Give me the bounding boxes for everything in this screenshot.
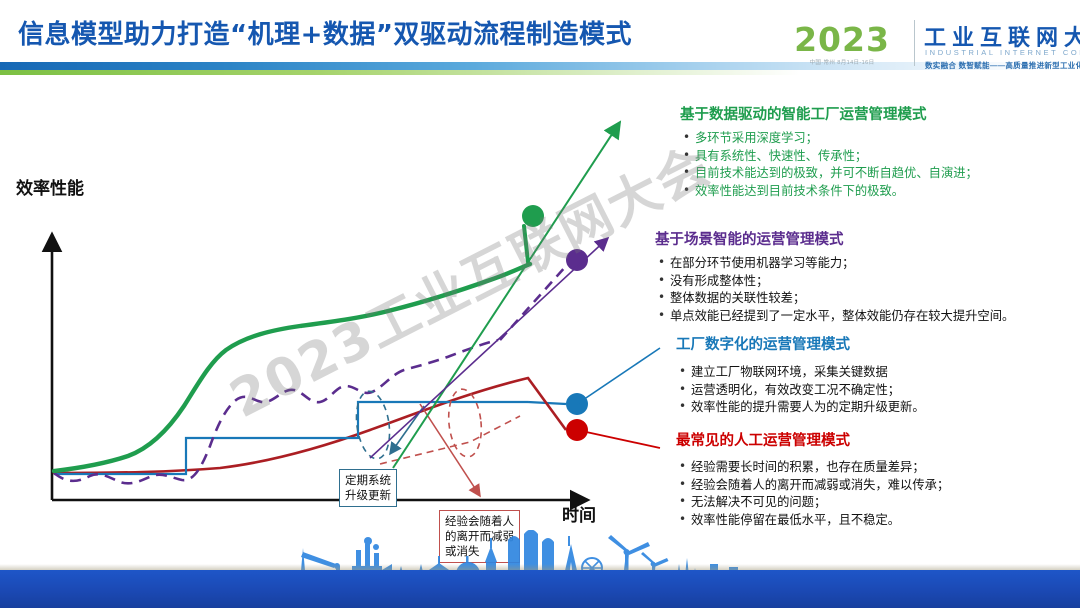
block-heading-scenario-intelligence: 基于场景智能的运营管理模式 (655, 228, 1014, 249)
block-bullets-data-driven: 多环节采用深度学习； 具有系统性、快速性、传承性； 目前技术能达到的极致，并可不… (680, 130, 978, 200)
list-item: 单点效能已经提到了一定水平，整体效能仍存在较大提升空间。 (655, 308, 1014, 326)
list-item: 建立工厂物联网环境，采集关键数据 (676, 364, 925, 382)
logo-conference-name-en: INDUSTRIAL INTERNET CONFERENCE (925, 48, 1080, 57)
annotation-arrow-data-driven (393, 122, 620, 468)
connector-green-stub (524, 226, 528, 262)
header-rule-green (0, 70, 800, 75)
block-bullets-manual-operation: 经验需要长时间的积累，也存在质量差异； 经验会随着人的离开而减弱或消失，难以传承… (676, 459, 949, 529)
annotation-regular-system-upgrade: 定期系统 升级更新 (339, 469, 397, 507)
text-block-factory-digitalization: 工厂数字化的运营管理模式 建立工厂物联网环境，采集关键数据 运营透明化，有效改变… (676, 333, 925, 417)
logo-year-subtitle: 中国·常州 8月14日-16日 (778, 58, 906, 66)
block-bullets-factory-digitalization: 建立工厂物联网环境，采集关键数据 运营透明化，有效改变工况不确定性； 效率性能的… (676, 364, 925, 417)
y-axis-label: 效率性能 (16, 174, 84, 199)
text-block-manual-operation: 最常见的人工运营管理模式 经验需要长时间的积累，也存在质量差异； 经验会随着人的… (676, 429, 949, 529)
conference-logo: 2023 中国·常州 8月14日-16日 工业互联网大会 INDUSTRIAL … (772, 18, 1072, 76)
list-item: 整体数据的关联性较差； (655, 290, 1014, 308)
list-item: 在部分环节使用机器学习等能力； (655, 255, 1014, 273)
list-item: 效率性能的提升需要人为的定期升级更新。 (676, 399, 925, 417)
page-title: 信息模型助力打造“机理+数据”双驱动流程制造模式 (18, 14, 632, 51)
efficiency-vs-time-chart: 效率性能 时间 (0, 86, 700, 536)
list-item: 经验会随着人的离开而减弱或消失，难以传承； (676, 477, 949, 495)
block-heading-data-driven: 基于数据驱动的智能工厂运营管理模式 (680, 103, 978, 124)
annotation-arrow-manual-operation (577, 430, 660, 448)
list-item: 经验需要长时间的积累，也存在质量差异； (676, 459, 949, 477)
block-heading-manual-operation: 最常见的人工运营管理模式 (676, 429, 949, 450)
list-item: 目前技术能达到的极致，并可不断自趋优、自演进； (680, 165, 978, 183)
footer-blue-band (0, 570, 1080, 608)
slide-header: 信息模型助力打造“机理+数据”双驱动流程制造模式 2023 中国·常州 8月14… (0, 0, 1080, 86)
series-line-factory-digitalization (54, 402, 528, 474)
text-block-data-driven: 基于数据驱动的智能工厂运营管理模式 多环节采用深度学习； 具有系统性、快速性、传… (680, 103, 978, 200)
list-item: 效率性能停留在最低水平，且不稳定。 (676, 512, 949, 530)
highlight-ellipse-red (446, 388, 485, 459)
text-block-scenario-intelligence: 基于场景智能的运营管理模式 在部分环节使用机器学习等能力； 没有形成整体性； 整… (655, 228, 1014, 325)
logo-slogan: 数实融合 数智赋能——高质量推进新型工业化 (925, 60, 1080, 71)
annotation-arrow-factory-digitalization (577, 348, 660, 404)
list-item: 运营透明化，有效改变工况不确定性； (676, 382, 925, 400)
list-item: 具有系统性、快速性、传承性； (680, 148, 978, 166)
list-item: 无法解决不可见的问题； (676, 494, 949, 512)
slide-canvas: 信息模型助力打造“机理+数据”双驱动流程制造模式 2023 中国·常州 8月14… (0, 0, 1080, 608)
list-item: 没有形成整体性； (655, 273, 1014, 291)
logo-divider (914, 20, 915, 66)
logo-year: 2023 (778, 20, 906, 59)
block-heading-factory-digitalization: 工厂数字化的运营管理模式 (676, 333, 925, 354)
series-line-scenario-intelligence (54, 340, 498, 483)
slide-footer (0, 530, 1080, 608)
list-item: 多环节采用深度学习； (680, 130, 978, 148)
block-bullets-scenario-intelligence: 在部分环节使用机器学习等能力； 没有形成整体性； 整体数据的关联性较差； 单点效… (655, 255, 1014, 325)
callout-leader-red (420, 404, 480, 496)
list-item: 效率性能达到目前技术条件下的极致。 (680, 183, 978, 201)
x-axis-label: 时间 (562, 501, 596, 526)
endpoint-dot-data-driven (522, 205, 544, 227)
